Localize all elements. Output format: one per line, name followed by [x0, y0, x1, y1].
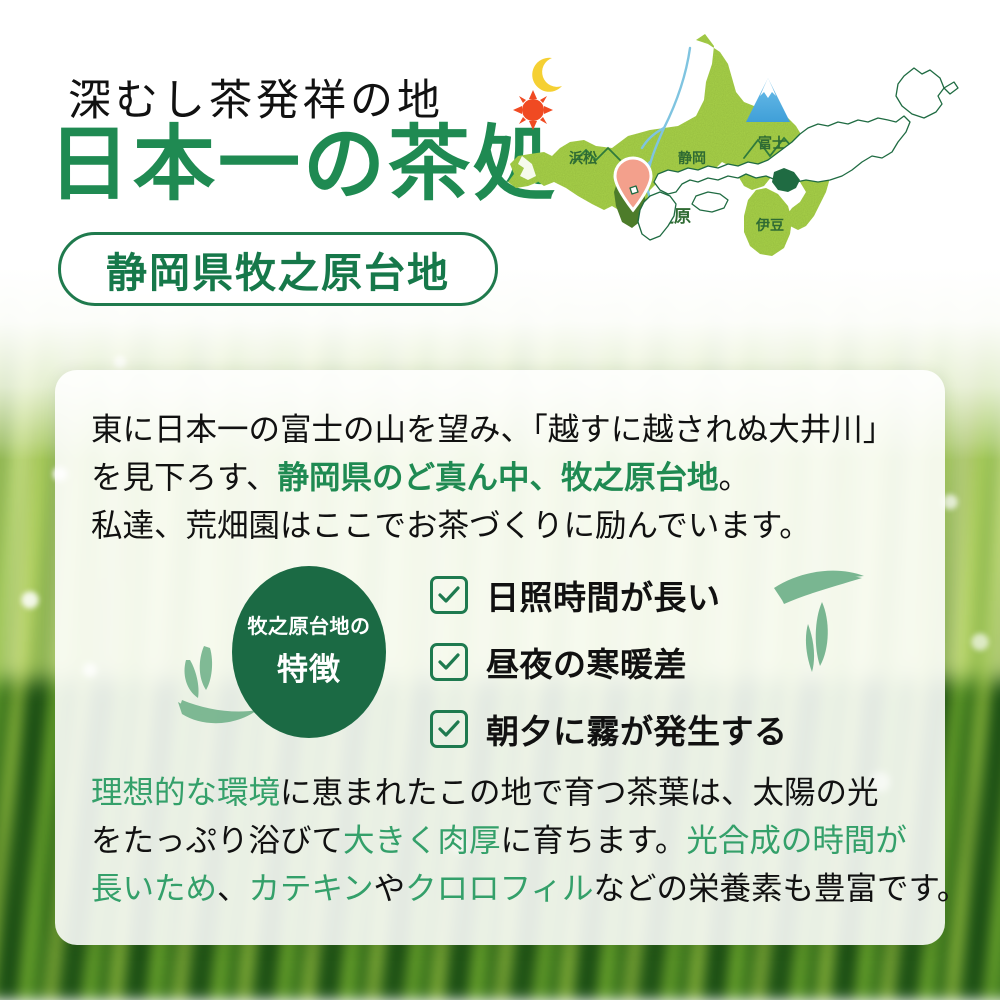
- feature-checklist: 日照時間が長い 昼夜の寒暖差 朝夕に霧が発生する: [430, 566, 788, 767]
- outro-l3-highlight: 長いため: [91, 870, 217, 906]
- map-label-shizuoka: 静岡: [678, 150, 706, 166]
- outro-l3-b: や: [374, 870, 406, 906]
- outro-l1-highlight: 理想的な環境: [91, 774, 280, 810]
- intro-line-1: 東に日本一の富士の山を望み、「越すに越されぬ大井川」: [91, 411, 894, 447]
- checklist-item-label: 昼夜の寒暖差: [486, 638, 687, 686]
- feature-circle-subtitle: 牧之原台地の: [248, 615, 371, 639]
- sun-icon: [513, 90, 553, 130]
- outro-l3-highlight-2: カテキン: [249, 870, 374, 906]
- outro-l3-highlight-3: クロロフィル: [405, 870, 593, 906]
- outro-l3-a: 、: [217, 870, 249, 906]
- feature-circle-title: 特徴: [277, 644, 341, 689]
- checklist-item-2: 朝夕に霧が発生する: [430, 700, 788, 758]
- checklist-item-1: 昼夜の寒暖差: [430, 633, 788, 691]
- check-icon: [430, 576, 468, 614]
- checklist-item-0: 日照時間が長い: [430, 566, 788, 624]
- outro-l2-a: をたっぷり浴びて: [91, 822, 343, 858]
- outro-l2-highlight-2: 光合成の時間が: [686, 822, 907, 858]
- checklist-item-label: 日照時間が長い: [486, 571, 721, 619]
- feature-circle: 牧之原台地の 特徴: [232, 566, 386, 738]
- check-icon: [430, 643, 468, 681]
- outro-l1-text: に恵まれたこの地で育つ茶葉は、太陽の光: [280, 774, 879, 810]
- check-icon: [430, 710, 468, 748]
- outro-l2-highlight: 大きく肉厚: [343, 822, 501, 858]
- checklist-item-label: 朝夕に霧が発生する: [486, 705, 788, 753]
- region-badge-label: 静岡県牧之原台地: [106, 239, 450, 299]
- intro-line-3: 私達、荒畑園はここでお茶づくりに励んでいます。: [91, 507, 811, 543]
- intro-paragraph: 東に日本一の富士の山を望み、「越すに越されぬ大井川」 を見下ろす、静岡県のど真ん…: [91, 406, 894, 550]
- intro-line-2-b: 。: [719, 459, 751, 495]
- page-title: 日本一の茶処: [48, 124, 558, 206]
- crescent-moon-icon: [532, 58, 562, 92]
- outro-l3-c: などの栄養素も豊富です。: [593, 870, 968, 906]
- outro-l2-b: に育ちます。: [501, 822, 687, 858]
- intro-line-2-a: を見下ろす、: [91, 459, 277, 495]
- infographic-page: 深むし茶発祥の地 日本一の茶処 静岡県牧之原台地: [0, 0, 1000, 1000]
- outro-paragraph: 理想的な環境に恵まれたこの地で育つ茶葉は、太陽の光 をたっぷり浴びて大きく肉厚に…: [91, 769, 968, 913]
- mount-fuji-icon: [746, 78, 790, 122]
- region-badge: 静岡県牧之原台地: [58, 232, 498, 306]
- map-label-fuji: 富士: [758, 135, 786, 151]
- map-label-izu: 伊豆: [755, 217, 784, 233]
- map-label-hamamatsu: 浜松: [569, 150, 597, 166]
- intro-line-2-highlight: 静岡県のど真ん中、牧之原台地: [277, 459, 718, 495]
- leaf-decoration-right: [768, 562, 898, 692]
- shizuoka-map: 浜松 静岡 富士 伊豆 牧之原: [500, 30, 1000, 360]
